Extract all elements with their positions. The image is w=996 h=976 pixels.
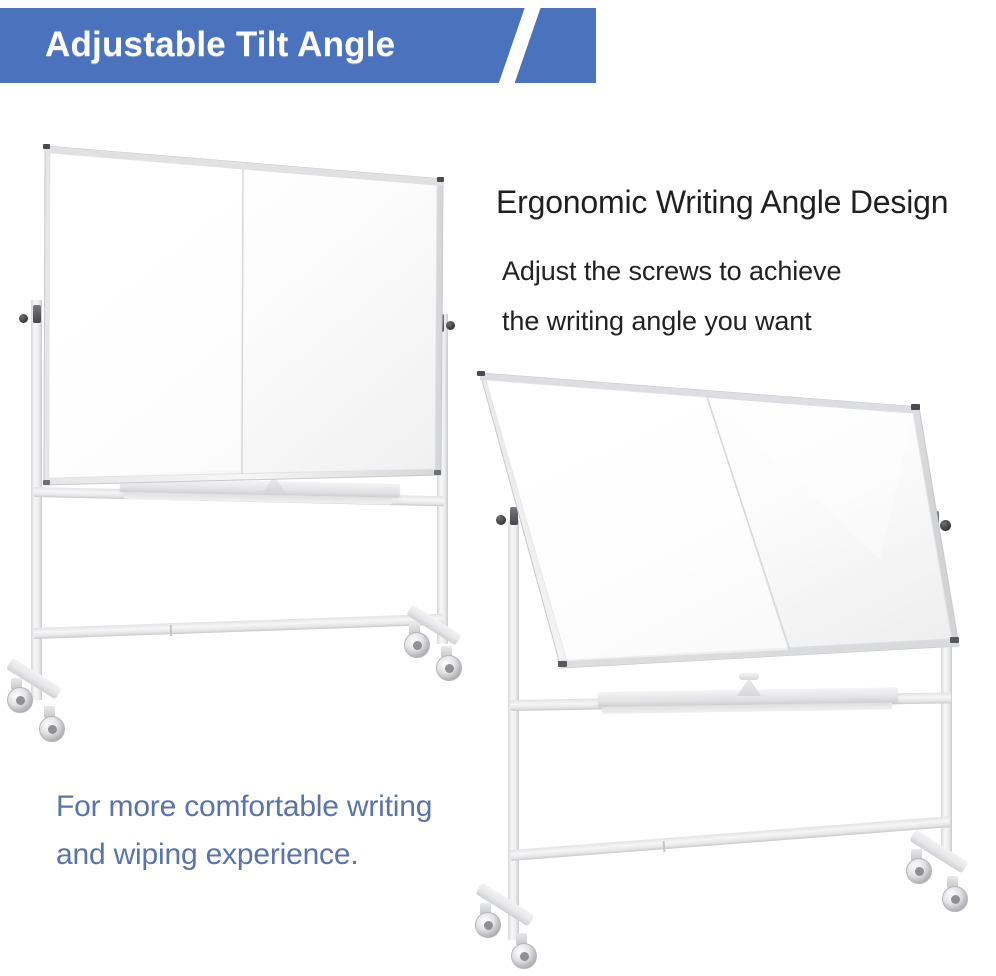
- tilted-caster-3: [906, 858, 932, 884]
- tilted-center-bracket: [737, 678, 761, 696]
- tilted-stand-lower-rail: [511, 816, 951, 861]
- footer-note-line-1: For more comfortable writing: [56, 790, 432, 824]
- callout-body-line-2: the writing angle you want: [502, 306, 812, 337]
- upright-caster-4: [436, 655, 462, 681]
- upright-caster-3: [404, 632, 430, 658]
- upright-caster-1: [7, 687, 33, 713]
- tilted-pivot-bracket-right: [931, 511, 939, 531]
- tilted-caster-2: [511, 943, 537, 969]
- diagonal-slash-icon: [496, 8, 543, 83]
- upright-pivot-knob-left[interactable]: [19, 314, 28, 323]
- upright-stand-lower-rail: [34, 614, 444, 639]
- upright-rail-seam: [170, 625, 172, 636]
- tilted-center-bracket-cap: [739, 673, 759, 680]
- upright-stand-right-post: [437, 314, 448, 644]
- tilted-caster-1: [475, 912, 501, 938]
- callout-body-line-1: Adjust the screws to achieve: [502, 256, 841, 287]
- footer-note-line-2: and wiping experience.: [56, 838, 358, 872]
- upright-stand-left-post: [31, 300, 42, 700]
- tilted-pivot-knob-left[interactable]: [496, 515, 506, 525]
- banner-title: Adjustable Tilt Angle: [45, 25, 395, 65]
- tilted-stand-left-post: [508, 520, 519, 940]
- tilted-pivot-knob-right[interactable]: [940, 520, 951, 531]
- callout-heading: Ergonomic Writing Angle Design: [496, 184, 948, 221]
- tilted-pivot-bracket-left: [510, 507, 518, 525]
- upright-pivot-knob-right[interactable]: [446, 321, 455, 330]
- product-feature-graphic: Adjustable Tilt Angle: [0, 0, 996, 976]
- upright-pivot-bracket-right: [436, 314, 444, 332]
- upright-caster-2: [39, 716, 65, 742]
- tilted-caster-4: [942, 886, 968, 912]
- header-banner: Adjustable Tilt Angle: [0, 8, 596, 83]
- upright-pivot-bracket-left: [33, 305, 41, 323]
